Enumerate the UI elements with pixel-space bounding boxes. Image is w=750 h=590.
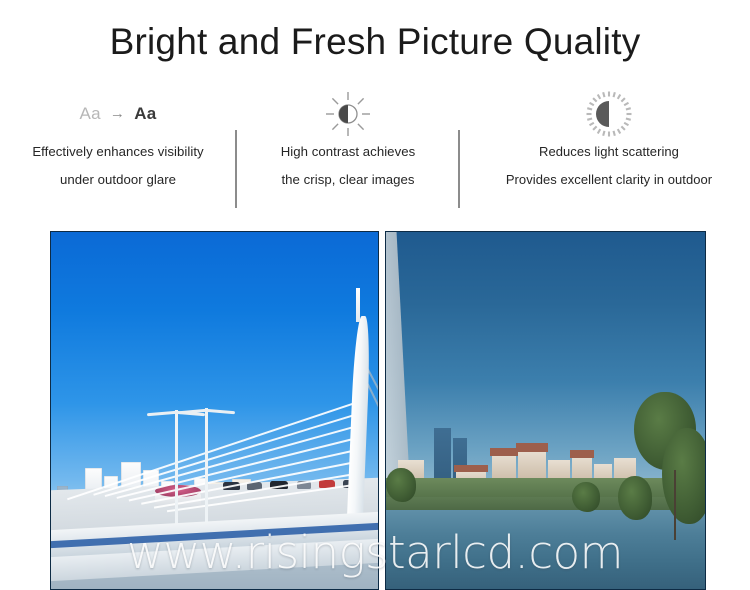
arrow-right-icon: → — [110, 105, 125, 123]
brightness-dial-icon-wrap — [468, 90, 750, 138]
tree — [386, 468, 416, 502]
brightness-dial-icon — [585, 90, 633, 138]
aa-dim-label: Aa — [79, 105, 100, 123]
feature-caption-2-line2: the crisp, clear images — [246, 166, 450, 194]
feature-caption-1-line1: Effectively enhances visibility — [2, 138, 234, 166]
tree — [618, 476, 652, 520]
feature-caption-2-line1: High contrast achieves — [246, 138, 450, 166]
lake-scene — [386, 232, 705, 589]
building-roof — [570, 450, 594, 458]
feature-divider-1 — [235, 130, 237, 208]
building-roof — [490, 448, 518, 456]
feature-caption-3-line2: Provides excellent clarity in outdoor — [468, 166, 750, 194]
tree — [572, 482, 600, 512]
lake-water — [386, 510, 705, 589]
page-title: Bright and Fresh Picture Quality — [0, 20, 750, 64]
bridge-scene — [51, 232, 378, 589]
feature-column-2: High contrast achieves the crisp, clear … — [246, 90, 450, 210]
bridge-spire — [356, 288, 360, 322]
standard-display-photo — [385, 231, 706, 590]
feature-strip: Aa → Aa Effectively enhances visibility … — [0, 90, 750, 210]
feature-caption-1-line2: under outdoor glare — [2, 166, 234, 194]
bright-enhanced-display-photo — [50, 231, 379, 590]
sun-contrast-icon — [324, 90, 372, 138]
building-roof — [516, 443, 548, 452]
sun-contrast-icon-wrap — [246, 90, 450, 138]
text-contrast-aa-icon: Aa → Aa — [2, 90, 234, 138]
feature-caption-3-line1: Reduces light scattering — [468, 138, 750, 166]
product-feature-page: Bright and Fresh Picture Quality Aa → Aa… — [0, 0, 750, 590]
feature-divider-2 — [458, 130, 460, 208]
feature-column-1: Aa → Aa Effectively enhances visibility … — [2, 90, 234, 210]
building-roof — [454, 465, 488, 472]
comparison-photos — [50, 231, 706, 590]
feature-column-3: Reduces light scattering Provides excell… — [468, 90, 750, 210]
tree-trunk — [674, 470, 676, 540]
aa-strong-label: Aa — [134, 105, 156, 123]
